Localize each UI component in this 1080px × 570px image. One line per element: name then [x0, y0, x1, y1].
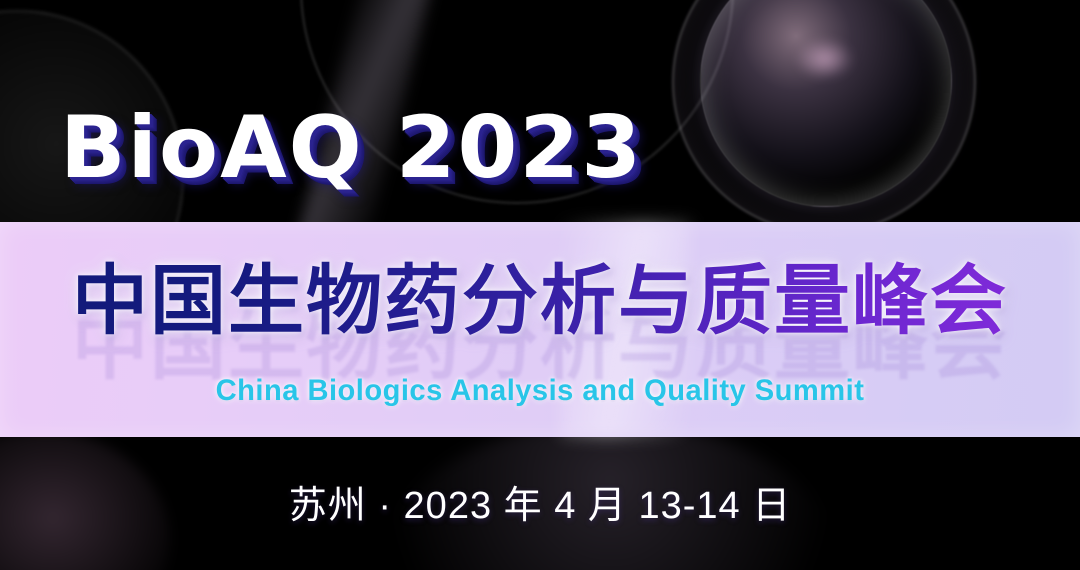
- main-title-row: BioAQ 2023: [0, 96, 1080, 204]
- main-title: BioAQ 2023: [60, 96, 643, 201]
- location-date-line: 苏州 · 2023 年 4 月 13-14 日: [0, 480, 1080, 532]
- conference-banner: BioAQ 2023 中国生物药分析与质量峰会 中国生物药分析与质量峰会 Chi…: [0, 0, 1080, 570]
- chinese-title: 中国生物药分析与质量峰会: [0, 255, 1080, 347]
- english-subtitle: China Biologics Analysis and Quality Sum…: [16, 372, 1064, 410]
- bubble-highlight-icon: [795, 38, 855, 80]
